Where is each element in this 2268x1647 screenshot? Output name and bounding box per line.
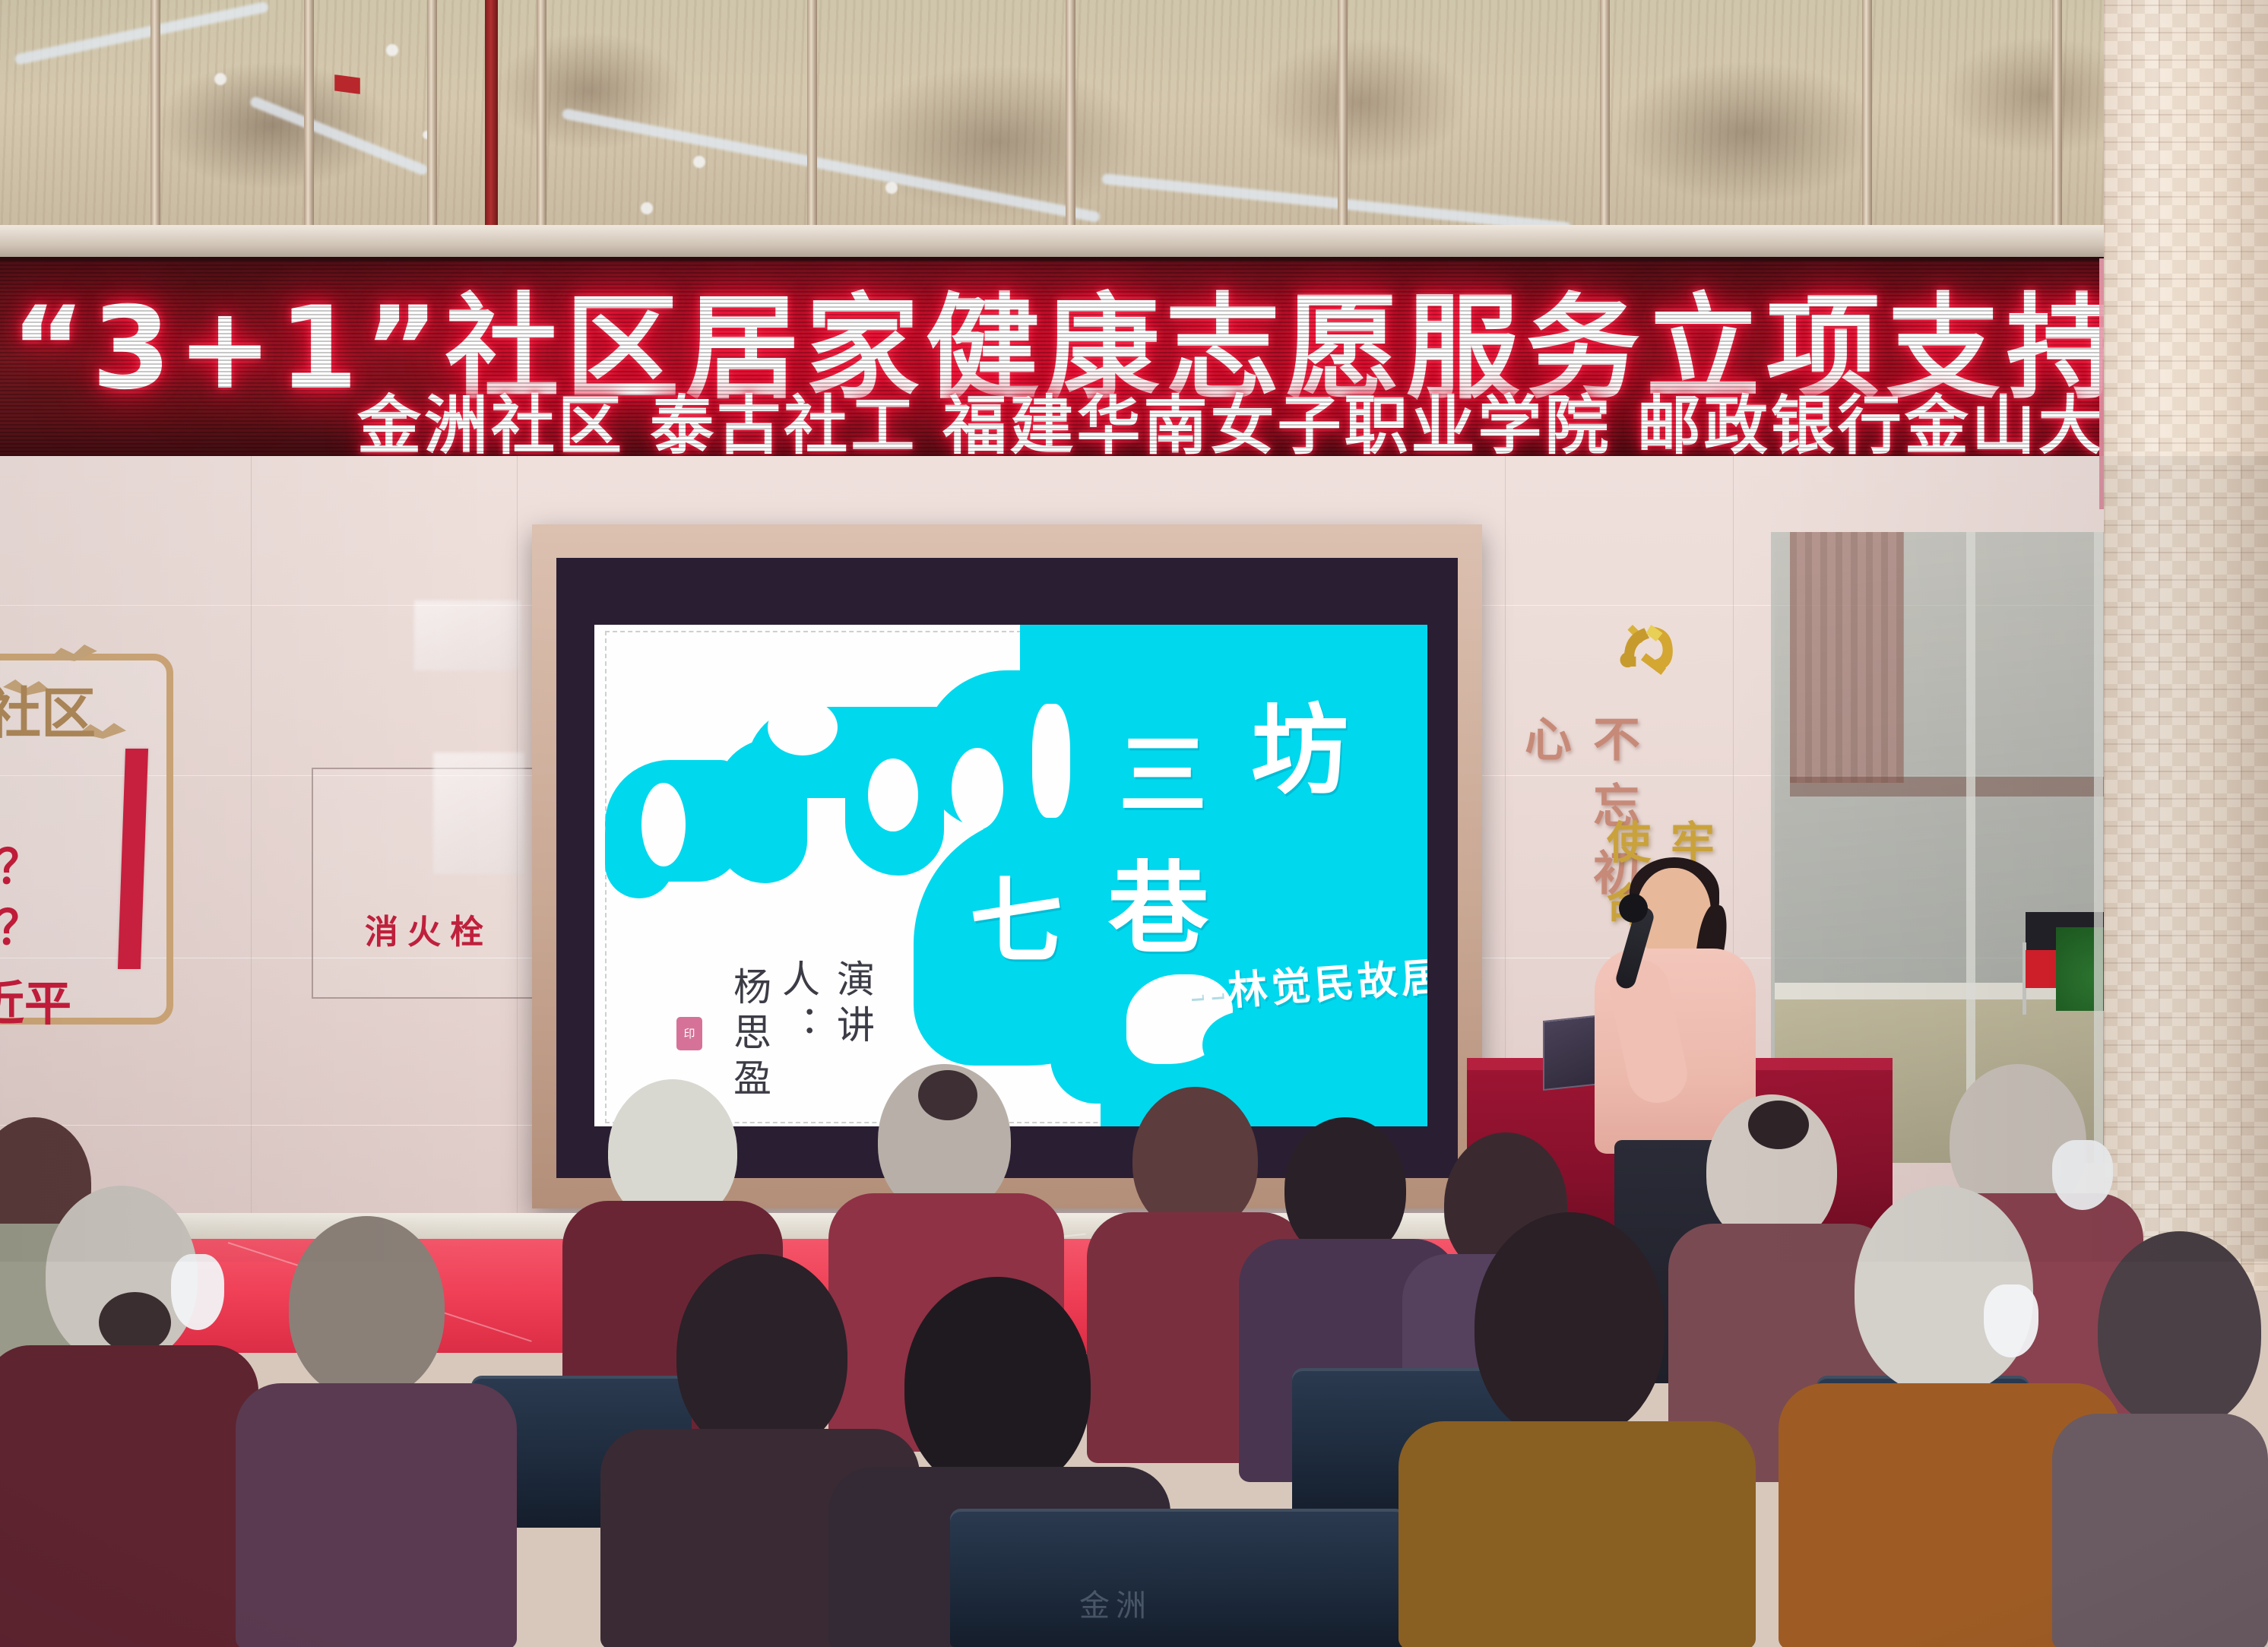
mural-mullion [1066,0,1075,228]
mural-red-pole [485,0,498,228]
wall-shading [0,456,2268,1262]
mural-mullion [1338,0,1348,228]
audience-body [236,1383,517,1647]
event-banner: “3+1”社区居家健康志愿服务立项支持项目 金洲社区 泰古社工 福建华南女子职业… [0,257,2105,464]
marble-ledge [0,225,2268,260]
mural-mullion [2052,0,2062,228]
mural-mullion [304,0,314,228]
chair[interactable]: 金洲 [950,1509,1406,1647]
mural-texture [0,0,2268,228]
mural-mullion [150,0,160,228]
audience-body [0,1345,258,1647]
mural-mullion [427,0,437,228]
mural-light-dot [885,182,898,194]
audience-head [904,1277,1091,1493]
mural-mullion [807,0,817,228]
chair-brand-mark: 金洲 [1079,1581,1152,1625]
photo-scene: “3+1”社区居家健康志愿服务立项支持项目 金洲社区 泰古社工 福建华南女子职业… [0,0,2268,1647]
mural-mullion [1600,0,1610,228]
audience-hair-bun [99,1292,171,1353]
mural-mullion [537,0,546,228]
face-mask [171,1254,224,1330]
audience-body [1398,1421,1756,1647]
banner-scanlines [0,261,2105,460]
mural-light-dot [214,73,226,85]
audience-head [676,1254,847,1455]
face-mask [1984,1284,2038,1357]
mural-light-dot [693,156,705,168]
mural-wall [0,0,2268,228]
mural-light-dot [386,44,398,56]
audience-body [2052,1414,2268,1647]
mural-light-dot [641,202,653,214]
mural-mullion [1862,0,1872,228]
